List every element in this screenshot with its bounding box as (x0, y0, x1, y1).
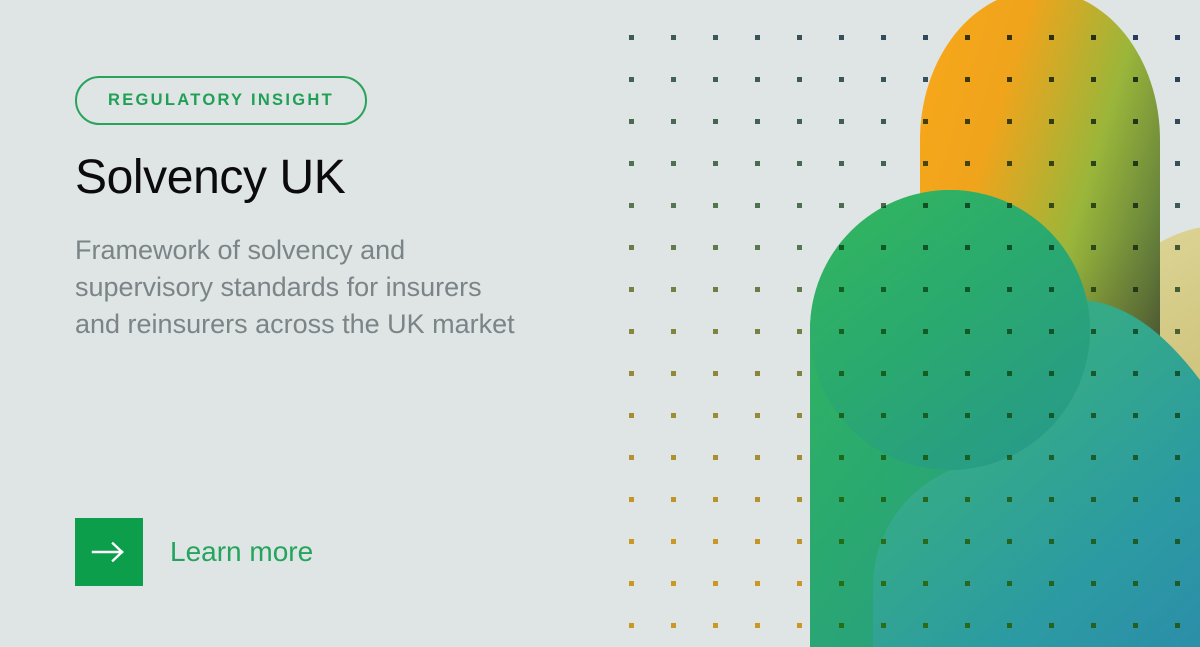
content-column: REGULATORY INSIGHT Solvency UK Framework… (0, 0, 600, 647)
category-badge-label: REGULATORY INSIGHT (108, 91, 334, 110)
decorative-artwork (600, 0, 1200, 647)
category-badge: REGULATORY INSIGHT (75, 76, 367, 125)
promo-banner: REGULATORY INSIGHT Solvency UK Framework… (0, 0, 1200, 647)
learn-more-cta[interactable]: Learn more (75, 518, 313, 586)
subtitle-text: Framework of solvency and supervisory st… (75, 232, 605, 343)
subtitle-line-3: and reinsurers across the UK market (75, 306, 605, 343)
arrow-right-icon[interactable] (75, 518, 143, 586)
subtitle-line-2: supervisory standards for insurers (75, 269, 605, 306)
learn-more-label[interactable]: Learn more (170, 536, 313, 568)
page-title: Solvency UK (75, 150, 345, 205)
green-blob-circle (810, 190, 1090, 470)
subtitle-line-1: Framework of solvency and (75, 232, 605, 269)
